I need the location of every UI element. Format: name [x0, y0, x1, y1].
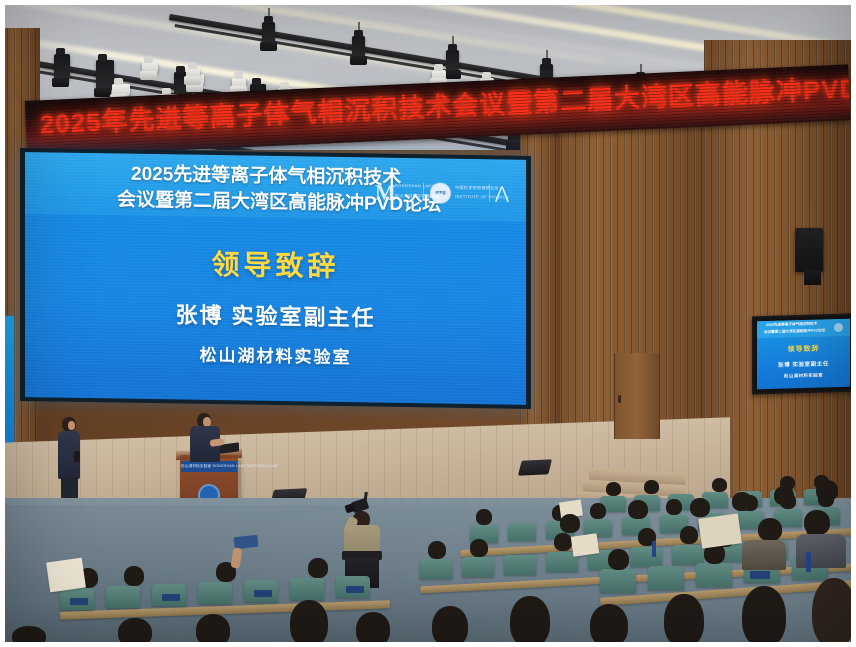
stage-light-icon: [112, 84, 130, 96]
seat-number-plate: [70, 598, 88, 605]
audience-head: [560, 514, 580, 533]
hanging-speaker-icon: [795, 228, 823, 272]
side-monitor-speaker: 张博 实验室副主任: [757, 359, 850, 370]
side-monitor-header: 2025先进等离子体气相沉积技术 会议暨第二届大湾区高能脉冲PVD论坛: [757, 319, 850, 339]
stage-floor-monitor: [518, 459, 552, 476]
conference-hall-photo: 2025年先进等离子体气相沉积技术会议暨第二届大湾区高能脉冲PVD论坛 2025…: [0, 0, 856, 647]
stage-light-icon: [232, 78, 246, 88]
audience-shoulders: [742, 540, 786, 570]
logo-divider: [489, 183, 490, 201]
seat[interactable]: [290, 578, 324, 600]
audience-head: [812, 578, 856, 647]
handout-paper: [571, 533, 600, 556]
audience-head: [196, 614, 230, 647]
slide-header-band: 2025先进等离子体气相沉积技术 会议暨第二届大湾区高能脉冲PVD论坛 M SO…: [25, 152, 526, 222]
seat[interactable]: [648, 566, 684, 590]
handout-paper: [698, 513, 742, 548]
speaker-at-podium: [190, 413, 224, 468]
side-monitor-organization: 松山湖材料实验室: [757, 372, 850, 381]
audience-head: [774, 486, 794, 505]
stage-light-icon: [432, 70, 446, 80]
handout-paper: [46, 558, 86, 593]
audience-head: [690, 498, 710, 517]
seat-number-plate: [254, 590, 272, 597]
seat-number-plate: [750, 571, 770, 579]
slide-organization: 松山湖材料实验室: [25, 338, 526, 371]
audience-head: [742, 586, 786, 647]
door-handle-icon: [618, 395, 621, 403]
audience-head: [12, 626, 46, 647]
audience-head: [118, 618, 152, 647]
audience-head: [290, 600, 328, 647]
audience-head: [680, 526, 698, 544]
audience-head: [308, 558, 328, 578]
stage-light-icon: [54, 54, 70, 80]
logo-caption-line1: SONGSHAN LAKE: [395, 183, 434, 189]
audience-head: [510, 596, 550, 647]
audience-head: [758, 518, 782, 541]
audience-head: [590, 503, 606, 519]
songshan-lake-logo-icon: M: [375, 180, 396, 206]
audience-head: [644, 480, 659, 494]
seat[interactable]: [504, 555, 536, 575]
face: [68, 421, 75, 430]
logo-caption-line3: 中国科学院物理研究所: [455, 185, 499, 191]
audience-head: [356, 612, 390, 647]
stage-light-icon: [142, 62, 158, 73]
emg-logo-text: emg: [431, 189, 450, 195]
audience-head: [628, 500, 648, 519]
seat[interactable]: [630, 547, 662, 567]
seat[interactable]: [462, 557, 494, 577]
logo-divider: [423, 182, 424, 200]
audience-head: [608, 549, 629, 570]
audience-head: [124, 566, 144, 586]
stage-light-icon: [352, 36, 365, 58]
lanyard: [652, 541, 656, 557]
presentation-slide: 2025先进等离子体气相沉积技术 会议暨第二届大湾区高能脉冲PVD论坛 M SO…: [25, 152, 526, 405]
speaker-rod: [810, 206, 812, 230]
seat[interactable]: [420, 559, 452, 579]
side-monitor-screen: 2025先进等离子体气相沉积技术 会议暨第二届大湾区高能脉冲PVD论坛 领导致辞…: [757, 319, 850, 390]
audience-head: [470, 539, 488, 557]
stage-light-icon: [262, 22, 275, 44]
slide-speaker-name: 张博 实验室副主任: [25, 295, 526, 335]
hand: [210, 438, 225, 447]
emg-circle-logo-icon: emg: [430, 182, 451, 203]
audience-head: [590, 604, 628, 647]
audience-head: [476, 509, 492, 525]
seat[interactable]: [672, 545, 704, 565]
seat-number-plate: [162, 594, 180, 601]
audience-head: [432, 606, 468, 647]
audience-head: [712, 478, 727, 492]
side-monitor-header-line1: 2025先进等离子体气相沉积技术: [766, 322, 817, 328]
side-monitor-logo-icon: [834, 323, 843, 332]
photographer: [340, 505, 384, 587]
side-monitor: 2025先进等离子体气相沉积技术 会议暨第二届大湾区高能脉冲PVD论坛 领导致辞…: [752, 314, 855, 395]
handheld-radio-icon: [74, 451, 80, 462]
institute-logo-icon: ⋀: [495, 183, 509, 203]
seat[interactable]: [106, 586, 140, 608]
seat-number-plate: [346, 586, 364, 593]
slide-title: 领导致辞: [25, 240, 526, 288]
side-monitor-title: 领导致辞: [757, 343, 850, 356]
stage-light-icon: [446, 50, 459, 72]
audience-head: [664, 594, 704, 647]
audience-shoulders: [796, 534, 846, 568]
main-led-screen: 2025先进等离子体气相沉积技术 会议暨第二届大湾区高能脉冲PVD论坛 M SO…: [20, 148, 531, 409]
audience-head: [732, 492, 752, 511]
audience-head: [606, 482, 621, 496]
seat[interactable]: [198, 582, 232, 604]
audience-head: [804, 510, 830, 535]
lanyard: [806, 552, 811, 572]
audience-head: [554, 533, 572, 551]
logo-caption-line2: 松山湖材料实验室: [395, 193, 430, 199]
audience-head: [816, 480, 838, 501]
side-monitor-header-line2: 会议暨第二届大湾区高能脉冲PVD论坛: [764, 328, 825, 335]
audience-head: [666, 499, 682, 515]
seat[interactable]: [508, 523, 536, 541]
stage-light-icon: [186, 68, 200, 78]
seat[interactable]: [696, 563, 732, 587]
seat[interactable]: [600, 569, 636, 593]
audience-head: [428, 541, 446, 559]
slide-logo-bar: M SONGSHAN LAKE 松山湖材料实验室 emg 中国科学院物理研究所 …: [375, 174, 523, 210]
